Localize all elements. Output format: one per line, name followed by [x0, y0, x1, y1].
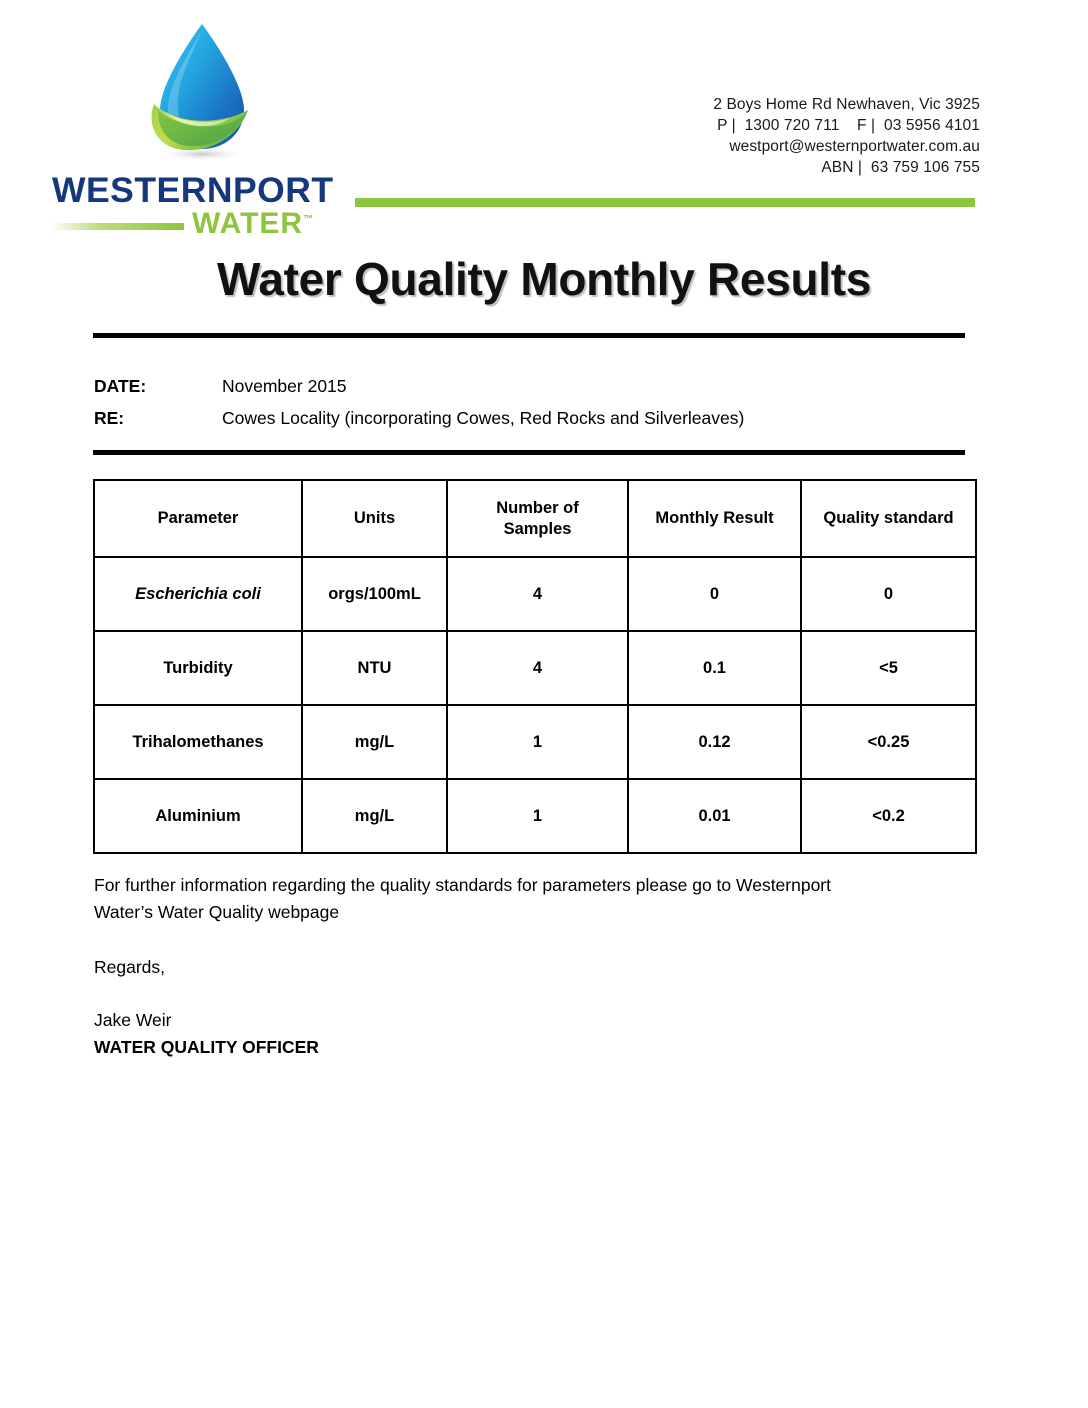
wordmark-green-rule: [52, 223, 184, 230]
document-footer: For further information regarding the qu…: [94, 872, 974, 1061]
contact-details: 2 Boys Home Rd Newhaven, Vic 3925 P | 13…: [713, 94, 980, 178]
water-quality-results-table: Parameter Units Number of Samples Monthl…: [93, 479, 977, 854]
samples-header-line2: Samples: [504, 520, 572, 538]
page-title: Water Quality Monthly Results: [0, 252, 1088, 306]
wordmark-water-text: WATER: [192, 207, 303, 240]
table-row: Aluminium mg/L 1 0.01 <0.2: [94, 779, 976, 853]
meta-row-re: RE: Cowes Locality (incorporating Cowes,…: [94, 402, 974, 434]
cell-parameter: Escherichia coli: [94, 557, 302, 631]
column-header-units: Units: [302, 480, 447, 557]
date-value: November 2015: [222, 370, 974, 402]
signer-title: WATER QUALITY OFFICER: [94, 1034, 974, 1061]
further-info-line1: For further information regarding the qu…: [94, 872, 954, 899]
cell-quality-standard: <0.2: [801, 779, 976, 853]
samples-header-line1: Number of: [496, 499, 579, 517]
table-row: Turbidity NTU 4 0.1 <5: [94, 631, 976, 705]
column-header-quality-standard: Quality standard: [801, 480, 976, 557]
column-header-parameter: Parameter: [94, 480, 302, 557]
footer-spacer: [94, 926, 974, 954]
regards-line: Regards,: [94, 954, 974, 981]
cell-monthly-result: 0.01: [628, 779, 801, 853]
signer-name: Jake Weir: [94, 1007, 974, 1034]
document-meta: DATE: November 2015 RE: Cowes Locality (…: [94, 370, 974, 434]
divider-above-meta: [93, 333, 965, 338]
cell-units: mg/L: [302, 779, 447, 853]
footer-spacer: [94, 981, 974, 1007]
table-header-row: Parameter Units Number of Samples Monthl…: [94, 480, 976, 557]
brand-wordmark: WESTERNPORT WATER™: [52, 173, 362, 235]
cell-parameter: Trihalomethanes: [94, 705, 302, 779]
contact-address: 2 Boys Home Rd Newhaven, Vic 3925: [713, 94, 980, 115]
cell-monthly-result: 0.12: [628, 705, 801, 779]
page-header: WESTERNPORT WATER™ 2 Boys Home Rd Newhav…: [0, 0, 1088, 225]
wordmark-westernport: WESTERNPORT: [52, 173, 362, 209]
cell-units: mg/L: [302, 705, 447, 779]
further-info-line2: Water’s Water Quality webpage: [94, 899, 954, 926]
header-green-bar: [355, 198, 975, 207]
meta-row-date: DATE: November 2015: [94, 370, 974, 402]
cell-samples: 1: [447, 779, 628, 853]
cell-samples: 4: [447, 557, 628, 631]
date-label: DATE:: [94, 370, 222, 402]
trademark-symbol: ™: [303, 214, 314, 225]
cell-units: orgs/100mL: [302, 557, 447, 631]
cell-parameter: Aluminium: [94, 779, 302, 853]
cell-monthly-result: 0: [628, 557, 801, 631]
company-logo: WESTERNPORT WATER™: [52, 18, 362, 218]
table-row: Escherichia coli orgs/100mL 4 0 0: [94, 557, 976, 631]
cell-samples: 1: [447, 705, 628, 779]
cell-units: NTU: [302, 631, 447, 705]
re-label: RE:: [94, 402, 222, 434]
contact-phone-fax: P | 1300 720 711 F | 03 5956 4101: [713, 115, 980, 136]
column-header-number-of-samples: Number of Samples: [447, 480, 628, 557]
re-value: Cowes Locality (incorporating Cowes, Red…: [222, 402, 974, 434]
cell-quality-standard: <5: [801, 631, 976, 705]
water-droplet-leaf-icon: [140, 18, 264, 166]
contact-abn: ABN | 63 759 106 755: [713, 157, 980, 178]
column-header-monthly-result: Monthly Result: [628, 480, 801, 557]
contact-email: westport@westernportwater.com.au: [713, 136, 980, 157]
cell-quality-standard: 0: [801, 557, 976, 631]
divider-below-meta: [93, 450, 965, 455]
table-row: Trihalomethanes mg/L 1 0.12 <0.25: [94, 705, 976, 779]
cell-quality-standard: <0.25: [801, 705, 976, 779]
cell-parameter: Turbidity: [94, 631, 302, 705]
cell-samples: 4: [447, 631, 628, 705]
cell-monthly-result: 0.1: [628, 631, 801, 705]
wordmark-water: WATER™: [192, 209, 314, 239]
